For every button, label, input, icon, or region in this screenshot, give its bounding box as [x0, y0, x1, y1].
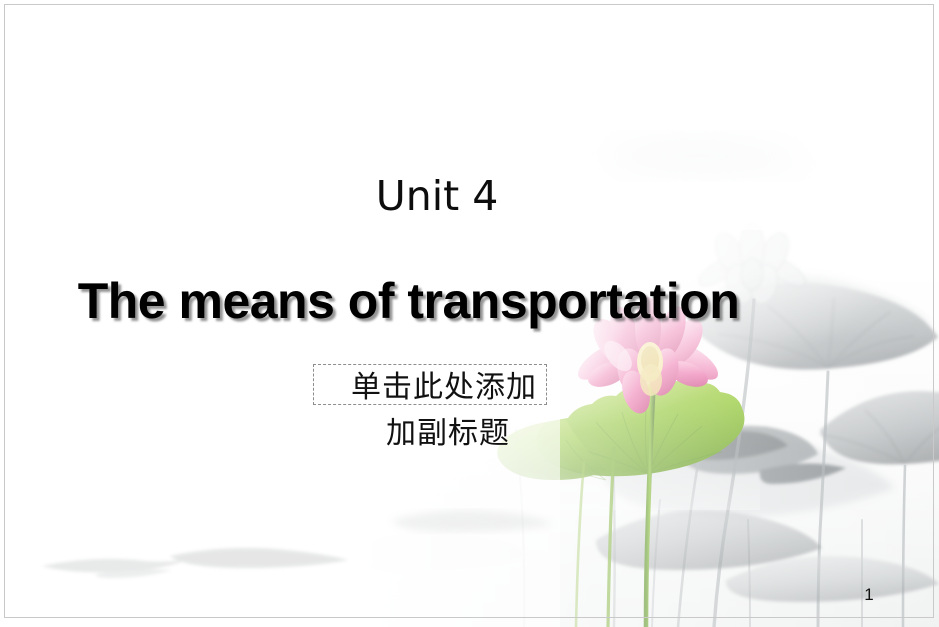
slide-text-content: Unit 4 The means of transportation 单击此处添… [0, 0, 939, 627]
presentation-slide: Unit 4 The means of transportation 单击此处添… [0, 0, 939, 627]
unit-label: Unit 4 [0, 172, 939, 220]
page-number: 1 [858, 585, 880, 605]
subtitle-placeholder-box[interactable]: 单击此处添加 [313, 364, 547, 405]
slide-title: The means of transportation [0, 272, 939, 330]
subtitle-line-1: 单击此处添加 [314, 362, 546, 406]
subtitle-placeholder[interactable]: 单击此处添加 加副标题 [313, 364, 547, 405]
subtitle-line-2: 加副标题 [313, 408, 547, 452]
